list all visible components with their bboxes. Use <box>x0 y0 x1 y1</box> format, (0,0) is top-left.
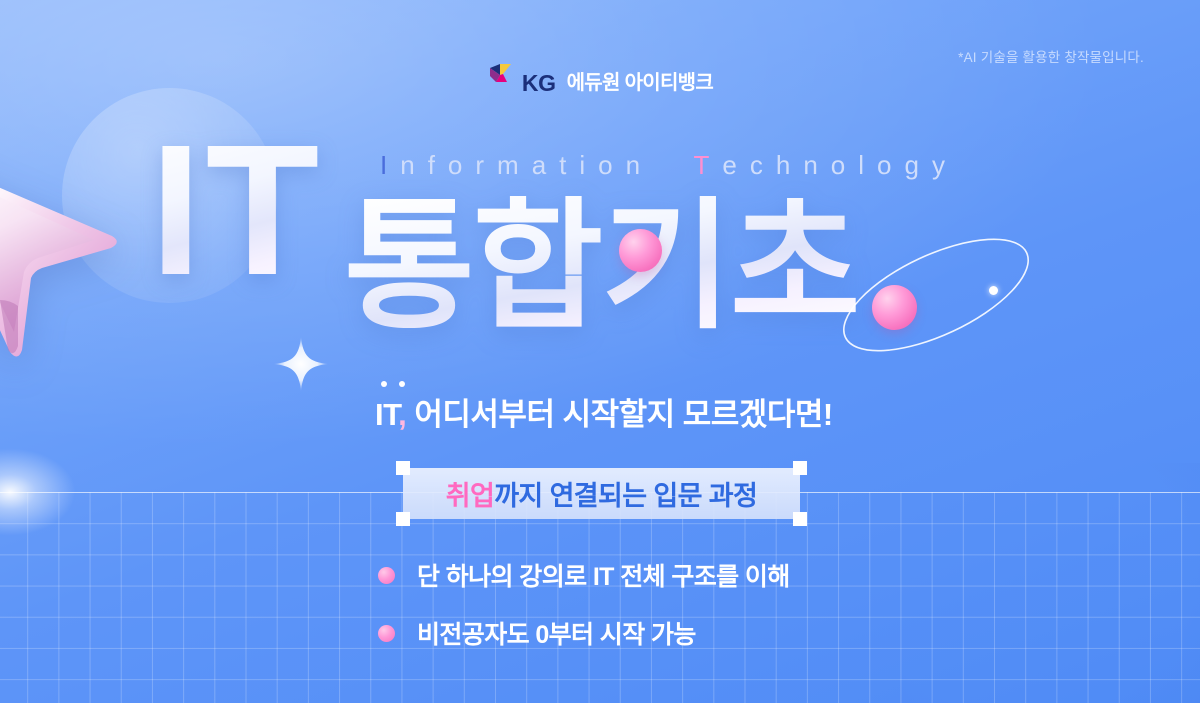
course-badge-panel: 취업까지 연결되는 입문 과정 <box>403 468 800 519</box>
course-badge: 취업까지 연결되는 입문 과정 <box>403 468 800 519</box>
eng-tagline: Information Technology <box>380 150 958 181</box>
logo-brand-text: 에듀원 아이티뱅크 <box>567 73 713 93</box>
pink-sphere-icon <box>619 229 662 272</box>
badge-handle-bottom-right[interactable] <box>793 512 807 526</box>
left-edge-glow <box>0 448 76 536</box>
sparkle-star-icon <box>274 337 328 391</box>
course-badge-text: 취업까지 연결되는 입문 과정 <box>446 474 758 513</box>
bullet-text: 비전공자도 0부터 시작 가능 <box>417 615 696 651</box>
feature-bullet-list: 단 하나의 강의로 IT 전체 구조를 이해 비전공자도 0부터 시작 가능 <box>378 557 790 673</box>
subtitle-rest: 어디서부터 시작할지 모르겠다면! <box>406 397 832 432</box>
orbit-dot-icon <box>989 286 998 295</box>
hero-big-it: IT <box>150 118 323 304</box>
orbit-ellipse-icon <box>826 218 1046 372</box>
badge-handle-top-right[interactable] <box>793 461 807 475</box>
logo-kg-text: KG <box>522 72 556 95</box>
course-badge-highlight: 취업 <box>446 481 494 511</box>
eng-tagline-t: T <box>694 150 723 180</box>
course-badge-rest: 까지 연결되는 입문 과정 <box>494 481 757 511</box>
badge-handle-top-left[interactable] <box>396 461 410 475</box>
eng-tagline-i: I <box>380 150 400 180</box>
pink-sphere-icon <box>872 285 917 330</box>
bullet-dot-icon <box>378 567 395 584</box>
kg-ribbon-mark-icon <box>487 62 513 88</box>
subtitle-it: IT <box>375 397 398 432</box>
corner-vignette <box>900 463 1200 703</box>
cursor-arrow-3d-icon <box>0 150 126 370</box>
list-item: 비전공자도 0부터 시작 가능 <box>378 615 790 651</box>
bullet-dot-icon <box>378 625 395 642</box>
bullet-text: 단 하나의 강의로 IT 전체 구조를 이해 <box>417 557 790 593</box>
brand-logo: KG 에듀원 아이티뱅크 <box>0 66 1200 100</box>
eng-tagline-information: nformation <box>400 150 653 180</box>
badge-handle-bottom-left[interactable] <box>396 512 410 526</box>
eng-tagline-technology: echnology <box>722 150 958 180</box>
promo-banner: KG 에듀원 아이티뱅크 *AI 기술을 활용한 창작물입니다. Informa… <box>0 0 1200 703</box>
list-item: 단 하나의 강의로 IT 전체 구조를 이해 <box>378 557 790 593</box>
ai-disclaimer-note: *AI 기술을 활용한 창작물입니다. <box>958 46 1144 66</box>
hero-korean-headline: 통합기초 <box>344 196 859 338</box>
hero-subtitle: IT, 어디서부터 시작할지 모르겠다면! <box>375 389 833 434</box>
